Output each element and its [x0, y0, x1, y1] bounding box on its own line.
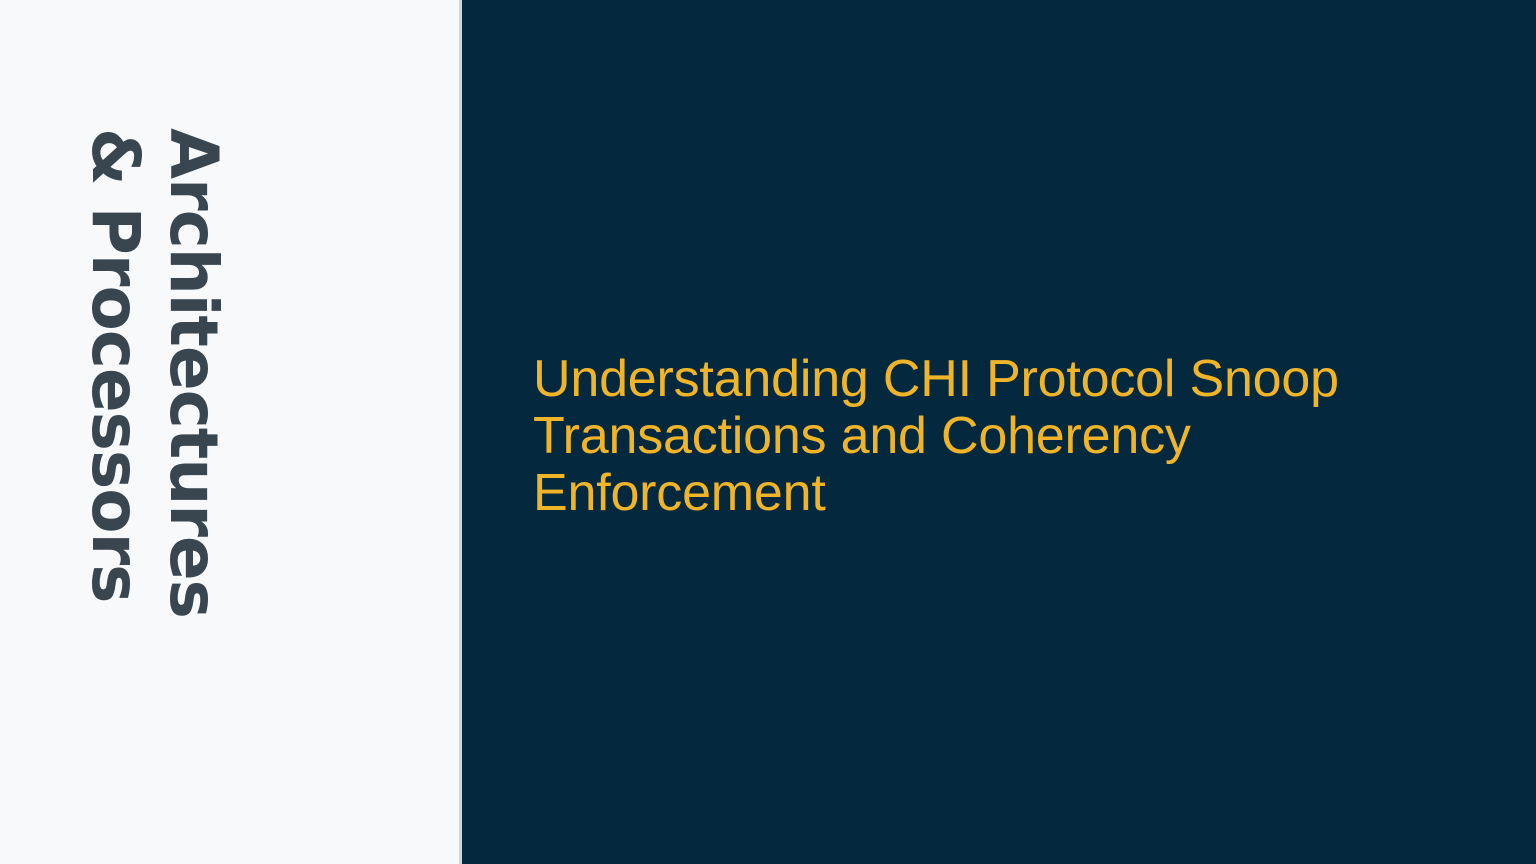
slide-root: Architectures & Processors Understanding…	[0, 0, 1536, 864]
vertical-category-heading: Architectures & Processors	[76, 128, 232, 710]
content-panel: Understanding CHI Protocol Snoop Transac…	[462, 0, 1536, 864]
page-title: Understanding CHI Protocol Snoop Transac…	[533, 351, 1483, 522]
vertical-heading-container: Architectures & Processors	[0, 0, 462, 864]
sidebar-panel: Architectures & Processors	[0, 0, 462, 864]
